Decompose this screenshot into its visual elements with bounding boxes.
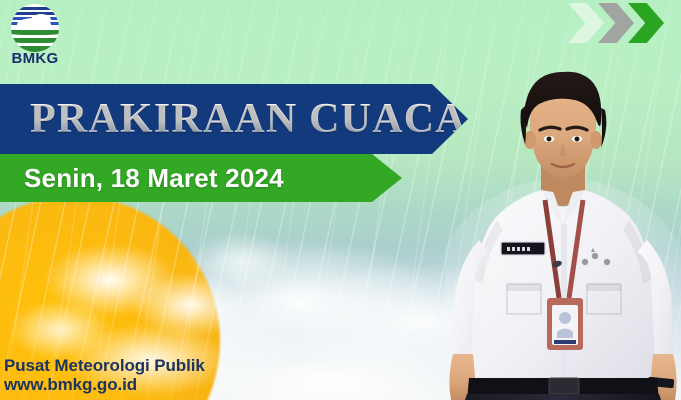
page-title: PRAKIRAAN CUACA <box>30 95 467 143</box>
chevron-right-icon <box>568 3 604 43</box>
presenter-name-badge <box>501 242 545 255</box>
footer-website: www.bmkg.go.id <box>4 375 205 394</box>
broadcast-date: Senin, 18 Maret 2024 <box>24 163 284 194</box>
title-banner: PRAKIRAAN CUACA <box>0 84 468 154</box>
bmkg-logo: BMKG <box>6 4 64 66</box>
presenter-figure <box>445 48 681 400</box>
footer-organization: Pusat Meteorologi Publik <box>4 356 205 375</box>
footer-credits: Pusat Meteorologi Publik www.bmkg.go.id <box>4 356 205 394</box>
weather-forecast-broadcast-graphic: BMKG PRAKIRAAN CUACA Senin, 18 Maret 202… <box>0 0 681 400</box>
presenter-id-card <box>547 298 583 350</box>
bmkg-logo-label: BMKG <box>6 50 64 67</box>
decorative-chevrons <box>568 2 673 44</box>
bmkg-logo-emblem-icon <box>11 4 59 52</box>
date-banner: Senin, 18 Maret 2024 <box>0 154 402 202</box>
